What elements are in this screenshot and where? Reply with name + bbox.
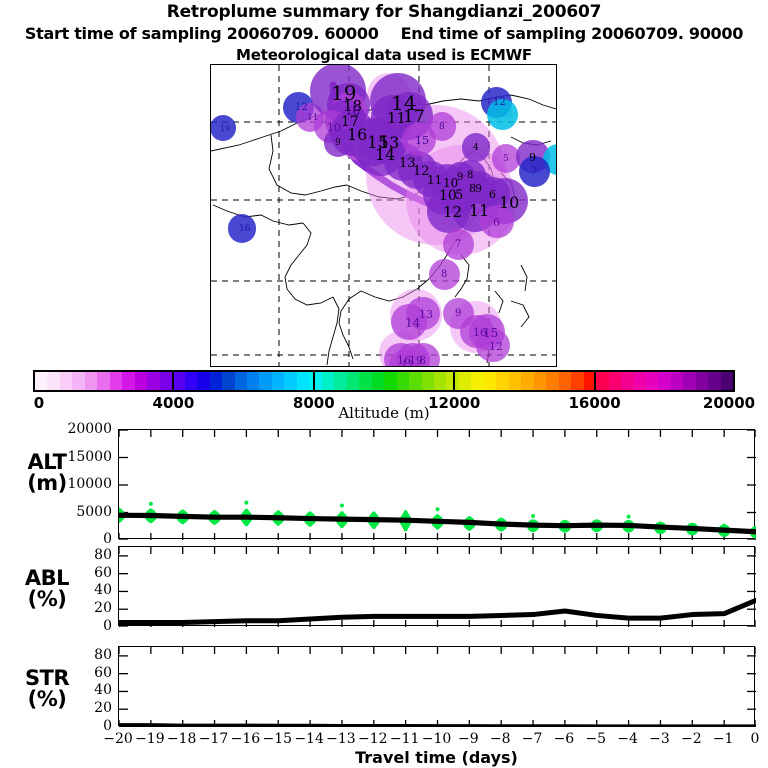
str-line — [119, 726, 756, 727]
alt-scatter-point — [404, 510, 407, 513]
colorbar-segment — [222, 372, 234, 390]
colorbar-segment — [609, 372, 621, 390]
colorbar-segment — [60, 372, 72, 390]
colorbar-segment — [397, 372, 409, 390]
colorbar-segment — [359, 372, 371, 390]
colorbar-segment — [135, 372, 147, 390]
colorbar-segment — [272, 372, 284, 390]
colorbar-segment — [546, 372, 558, 390]
abl-line — [119, 600, 756, 622]
colorbar-segment — [534, 372, 546, 390]
trajectory-day-label: 15 — [415, 135, 429, 146]
trajectory-day-label: 12 — [493, 98, 506, 108]
altitude-colorbar[interactable] — [33, 370, 735, 392]
alt-panel[interactable] — [118, 429, 755, 539]
x-tick-label: 0 — [751, 731, 760, 747]
trajectory-day-label: 12 — [295, 103, 308, 113]
colorbar-title: Altitude (m) — [0, 404, 768, 422]
x-tick-label: −8 — [490, 731, 511, 747]
alt-scatter-point — [531, 519, 534, 522]
alt-scatter-point — [181, 509, 184, 512]
x-tick-label: −5 — [585, 731, 606, 747]
trajectory-day-label: 10 — [499, 195, 519, 211]
colorbar-segment — [671, 372, 683, 390]
trajectory-day-label: 5 — [503, 155, 509, 164]
colorbar-segment — [197, 372, 209, 390]
trajectory-day-label: 17 — [401, 361, 414, 367]
colorbar-segment — [683, 372, 695, 390]
x-tick-label: −10 — [422, 731, 452, 747]
y-tick-label: 0 — [42, 531, 112, 547]
y-tick-label: 20 — [42, 700, 112, 716]
trajectory-day-label: 7 — [455, 240, 461, 250]
colorbar-segment — [284, 372, 296, 390]
met-data-label: Meteorological data used is ECMWF — [0, 46, 768, 64]
x-tick-label: −19 — [135, 731, 165, 747]
colorbar-segment — [634, 372, 646, 390]
retroplume-map[interactable]: 1912111918161710169141711151314131215812… — [210, 64, 557, 367]
alt-scatter-point — [372, 511, 375, 514]
y-tick-label: 10000 — [42, 476, 112, 492]
colorbar-segment — [434, 372, 446, 390]
colorbar-segment — [372, 372, 384, 390]
alt-scatter-point — [244, 501, 248, 505]
y-tick-label: 80 — [42, 647, 112, 663]
trajectory-day-label: 8 — [419, 355, 426, 366]
trajectory-day-label: 11 — [307, 114, 318, 123]
colorbar-segment — [35, 372, 47, 390]
colorbar-segment — [122, 372, 134, 390]
trajectory-day-label: 6 — [555, 155, 557, 165]
colorbar-segment — [484, 372, 496, 390]
trajectory-day-label: 16 — [473, 327, 487, 338]
colorbar-segment — [72, 372, 84, 390]
trajectory-day-label: 4 — [473, 144, 479, 153]
x-tick-label: −16 — [231, 731, 261, 747]
x-tick-label: −9 — [458, 731, 479, 747]
y-tick-label: 0 — [42, 718, 112, 734]
alt-scatter-point — [563, 520, 566, 523]
y-tick-label: 60 — [42, 565, 112, 581]
x-tick-label: −6 — [554, 731, 575, 747]
trajectory-day-label: 14 — [405, 317, 420, 329]
y-tick-label: 20000 — [42, 421, 112, 437]
alt-scatter-point — [308, 511, 311, 514]
colorbar-segment — [309, 372, 321, 390]
colorbar-segment — [235, 372, 247, 390]
trajectory-day-label: 19 — [220, 125, 230, 133]
colorbar-segment — [97, 372, 109, 390]
x-tick-label: −15 — [262, 731, 292, 747]
trajectory-day-label: 9 — [475, 183, 482, 194]
trajectory-day-label: 10 — [327, 122, 341, 133]
colorbar-segment — [471, 372, 483, 390]
colorbar-segment — [696, 372, 708, 390]
alt-scatter-point — [149, 508, 152, 511]
colorbar-major-tick — [453, 370, 455, 392]
x-tick-label: −1 — [713, 731, 734, 747]
colorbar-segment — [658, 372, 670, 390]
alt-scatter-point — [531, 514, 535, 518]
trajectory-day-label: 17 — [403, 109, 425, 126]
end-time-label: End time of sampling 20060709. 90000 — [401, 24, 744, 43]
colorbar-major-tick — [594, 370, 596, 392]
alt-scatter-point — [595, 519, 598, 522]
alt-scatter-point — [722, 523, 726, 527]
str-panel[interactable] — [118, 646, 755, 726]
x-tick-label: −17 — [199, 731, 229, 747]
y-tick-label: 15000 — [42, 449, 112, 465]
y-tick-label: 60 — [42, 665, 112, 681]
colorbar-segment — [297, 372, 309, 390]
y-tick-label: 5000 — [42, 504, 112, 520]
x-tick-label: −18 — [167, 731, 197, 747]
alt-scatter-point — [213, 510, 216, 513]
y-tick-label: 80 — [42, 547, 112, 563]
trajectory-day-label: 6 — [489, 189, 496, 200]
sampling-times: Start time of sampling 20060709. 60000En… — [0, 24, 768, 43]
alt-scatter-point — [245, 509, 248, 512]
alt-scatter-point — [149, 502, 153, 506]
colorbar-segment — [147, 372, 159, 390]
x-tick-label: −4 — [617, 731, 638, 747]
trajectory-day-label: 11 — [469, 203, 489, 219]
colorbar-segment — [384, 372, 396, 390]
trajectory-day-label: 9 — [335, 139, 341, 148]
colorbar-segment — [259, 372, 271, 390]
trajectory-day-label: 11 — [387, 111, 406, 126]
colorbar-segment — [459, 372, 471, 390]
trajectory-day-label: 8 — [439, 123, 445, 132]
colorbar-gradient — [33, 370, 735, 392]
x-axis-title: Travel time (days) — [118, 748, 755, 767]
start-time-label: Start time of sampling 20060709. 60000 — [25, 24, 379, 43]
colorbar-segment — [509, 372, 521, 390]
x-tick-label: −14 — [294, 731, 324, 747]
x-tick-label: −2 — [681, 731, 702, 747]
alt-scatter-point — [627, 515, 631, 519]
x-tick-label: −20 — [103, 731, 133, 747]
alt-scatter-point — [436, 514, 439, 517]
y-tick-label: 40 — [42, 582, 112, 598]
trajectory-day-label: 6 — [493, 217, 500, 228]
trajectory-day-label: 9 — [529, 152, 536, 163]
colorbar-segment — [160, 372, 172, 390]
colorbar-segment — [621, 372, 633, 390]
colorbar-segment — [85, 372, 97, 390]
trajectory-day-label: 5 — [455, 189, 463, 202]
trajectory-day-label: 10 — [499, 110, 512, 120]
alt-scatter-point — [340, 511, 343, 514]
colorbar-segment — [210, 372, 222, 390]
trajectory-day-label: 8 — [467, 171, 473, 181]
colorbar-segment — [422, 372, 434, 390]
colorbar-major-tick — [313, 370, 315, 392]
x-tick-label: −13 — [326, 731, 356, 747]
colorbar-segment — [496, 372, 508, 390]
alt-scatter-point — [468, 516, 471, 519]
alt-scatter-point — [436, 507, 440, 511]
trajectory-day-label: 8 — [441, 270, 447, 280]
trajectory-day-label: 13 — [419, 309, 433, 320]
colorbar-segment — [334, 372, 346, 390]
y-tick-label: 0 — [42, 618, 112, 634]
colorbar-segment — [322, 372, 334, 390]
trajectory-day-label: 16 — [239, 225, 250, 234]
trajectory-day-label: 14 — [375, 147, 395, 163]
colorbar-segment — [571, 372, 583, 390]
colorbar-segment — [185, 372, 197, 390]
x-tick-label: −11 — [390, 731, 420, 747]
trajectory-day-label: 12 — [489, 341, 503, 352]
x-tick-label: −7 — [522, 731, 543, 747]
y-tick-label: 40 — [42, 682, 112, 698]
colorbar-segment — [708, 372, 720, 390]
trajectory-day-label: 11 — [427, 174, 442, 186]
trajectory-day-label: 7 — [531, 167, 537, 177]
colorbar-segment — [596, 372, 608, 390]
colorbar-segment — [559, 372, 571, 390]
page-title: Retroplume summary for Shangdianzi_20060… — [0, 2, 768, 22]
colorbar-segment — [47, 372, 59, 390]
abl-panel[interactable] — [118, 546, 755, 626]
colorbar-segment — [521, 372, 533, 390]
alt-scatter-point — [340, 504, 344, 508]
y-tick-label: 20 — [42, 600, 112, 616]
alt-scatter-point — [277, 510, 280, 513]
alt-scatter-point — [627, 520, 630, 523]
colorbar-segment — [347, 372, 359, 390]
colorbar-segment — [646, 372, 658, 390]
trajectory-day-label: 16 — [347, 127, 367, 143]
colorbar-segment — [409, 372, 421, 390]
colorbar-segment — [721, 372, 733, 390]
trajectory-day-label: 9 — [455, 309, 461, 319]
x-tick-label: −12 — [358, 731, 388, 747]
trajectory-day-label: 12 — [443, 205, 462, 220]
colorbar-major-tick — [172, 370, 174, 392]
trajectory-day-label: 9 — [457, 173, 463, 183]
colorbar-segment — [110, 372, 122, 390]
x-tick-label: −3 — [649, 731, 670, 747]
alt-scatter-point — [499, 518, 502, 521]
colorbar-segment — [247, 372, 259, 390]
